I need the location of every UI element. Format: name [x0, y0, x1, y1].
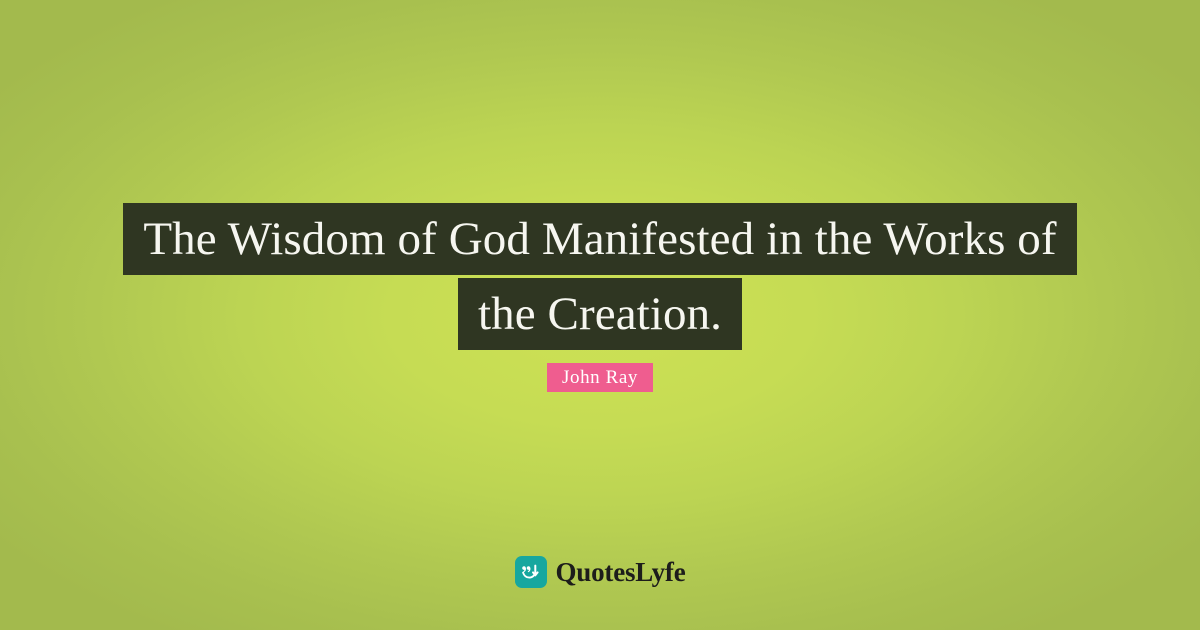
brand-logo[interactable]: QuotesLyfe [0, 556, 1200, 588]
quote-line-wrapper: The Wisdom of God Manifested in the Work… [0, 203, 1200, 275]
brand-name-text: QuotesLyfe [556, 556, 686, 588]
quote-line-1: The Wisdom of God Manifested in the Work… [123, 203, 1076, 275]
quote-line-wrapper: the Creation. [0, 277, 1200, 350]
author-badge-row: John Ray [0, 363, 1200, 392]
quote-line-2: the Creation. [458, 278, 742, 350]
quote-card: The Wisdom of God Manifested in the Work… [0, 0, 1200, 630]
author-name-badge: John Ray [547, 363, 653, 392]
quote-smiley-icon [515, 556, 547, 588]
quote-text-block: The Wisdom of God Manifested in the Work… [0, 203, 1200, 350]
